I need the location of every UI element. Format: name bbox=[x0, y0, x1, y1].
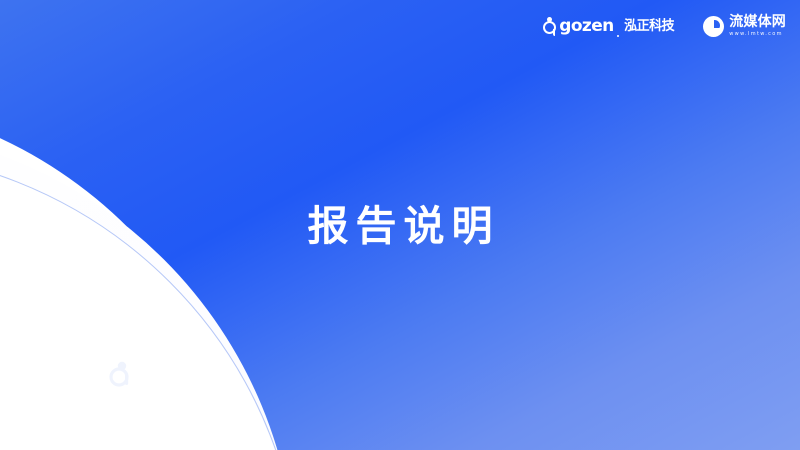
lmtw-mark-foot bbox=[709, 28, 720, 33]
gozen-wordmark: gozen bbox=[559, 18, 613, 35]
gozen-separator-dot bbox=[617, 35, 620, 38]
gozen-mark-tail bbox=[553, 29, 556, 36]
lmtw-logo[interactable]: 流媒体网 www.lmtw.com bbox=[703, 13, 786, 39]
gozen-g-mark-icon bbox=[543, 17, 558, 36]
logo-bar: gozen 泓正科技 流媒体网 www.lmtw.com bbox=[543, 13, 786, 39]
lmtw-text-block: 流媒体网 www.lmtw.com bbox=[729, 15, 786, 37]
slide-canvas: gozen 泓正科技 流媒体网 www.lmtw.com 报告说明 bbox=[0, 0, 800, 450]
gozen-logo[interactable]: gozen 泓正科技 bbox=[543, 13, 674, 39]
gozen-watermark-icon bbox=[108, 360, 142, 388]
lmtw-url: www.lmtw.com bbox=[729, 32, 783, 37]
lmtw-circle-mark-icon bbox=[703, 16, 724, 37]
page-title: 报告说明 bbox=[0, 203, 800, 250]
lmtw-chinese-name: 流媒体网 bbox=[729, 15, 786, 30]
gozen-chinese-name: 泓正科技 bbox=[624, 19, 674, 33]
